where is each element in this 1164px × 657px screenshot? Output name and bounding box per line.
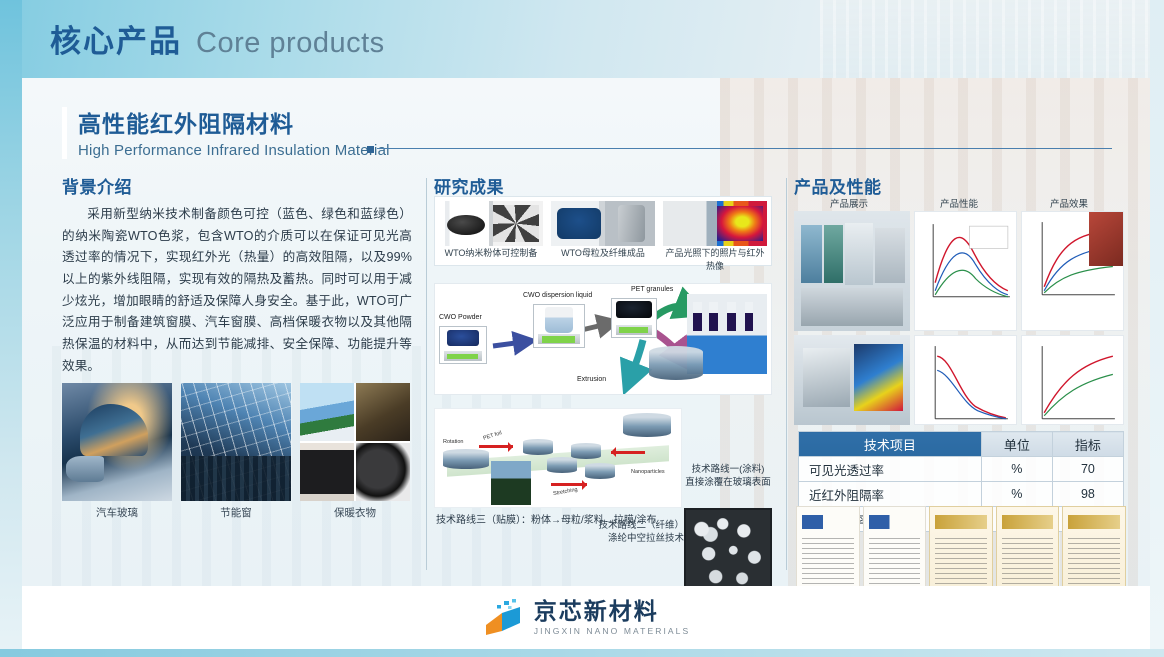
photo-cell-warm-clothing: 保暖衣物 — [300, 383, 410, 520]
route1-line1: 技术路线一(涂料) — [670, 464, 786, 477]
product-effect-chart-1 — [1021, 211, 1124, 331]
sample-tray — [801, 288, 903, 326]
product-top-row — [794, 211, 1124, 331]
label-nanoparticles: Nanoparticles — [631, 469, 665, 475]
certificates-row — [796, 506, 1126, 586]
section-title-en: High Performance Infrared Insulation Mat… — [78, 142, 390, 159]
scale-dispersion — [533, 304, 585, 348]
table-cell-item: 可见光透过率 — [799, 457, 982, 482]
certificate-header-band — [1002, 515, 1054, 528]
extrusion-roller-image — [649, 346, 703, 380]
route2-line2: 涤纶中空拉丝技术 — [598, 533, 684, 546]
label-cwo-dispersion: CWO dispersion liquid — [523, 292, 592, 299]
certificate-text-lines — [935, 538, 987, 586]
product-mid-row — [794, 335, 1124, 425]
cwo-dispersion-jar — [545, 307, 573, 333]
warm-clothing-image — [300, 383, 410, 501]
research-photo-2: WTO母粒及纤维成品 — [547, 197, 659, 265]
section-heading-bar — [62, 107, 67, 159]
research-caption: WTO母粒及纤维成品 — [551, 246, 655, 259]
pet-foil-arrow — [479, 445, 513, 448]
film-process-diagram: Rotation PET foil Stretching Nanoparticl… — [434, 408, 682, 508]
process-flow-diagram: CWO Powder — [434, 283, 772, 395]
table-cell-unit: % — [981, 457, 1052, 482]
header-column-graphic — [820, 0, 1150, 78]
energy-saving-window-image — [181, 383, 291, 501]
logo-name-en: JINGXIN NANO MATERIALS — [534, 627, 691, 636]
certificate-header-band — [935, 515, 987, 528]
table-header-unit: 单位 — [981, 432, 1052, 457]
research-caption: WTO纳米粉体可控制备 — [439, 246, 543, 259]
route2-line1: 技术路线二（纤维） — [598, 520, 684, 533]
film-sample-photo — [491, 461, 531, 505]
label-extrusion: Extrusion — [577, 376, 606, 383]
certificate-text-lines — [1002, 538, 1054, 586]
subcaption-product-effect: 产品效果 — [1014, 196, 1124, 210]
product-performance-chart-2 — [914, 335, 1017, 425]
photo-caption: 节能窗 — [181, 505, 291, 520]
roller — [523, 439, 553, 455]
certificate-patent-3 — [1062, 506, 1126, 586]
car-glass-image — [62, 383, 172, 501]
certificate-test-report — [796, 506, 860, 586]
sample-tile — [801, 225, 822, 283]
page-title-cn: 核心产品 — [50, 16, 182, 61]
section-title-cn: 高性能红外阻隔材料 — [78, 105, 390, 139]
table-header-row: 技术项目 单位 指标 — [799, 432, 1124, 457]
research-photo-1: WTO纳米粉体可控制备 — [435, 197, 547, 265]
certificate-text-lines — [802, 538, 854, 586]
clothing-thumb-skier — [300, 383, 354, 441]
roller — [547, 457, 577, 473]
vial — [693, 302, 702, 331]
research-photo-strip: WTO纳米粉体可控制备 WTO母粒及纤维成品 产品光照下的照片与红外热像 — [434, 196, 772, 266]
sample-tile — [824, 225, 843, 283]
pet-granules-bag — [616, 301, 651, 318]
roller-rotation — [443, 449, 489, 469]
certificate-report-2 — [863, 506, 927, 586]
certificate-text-lines — [869, 538, 921, 586]
page-title-en: Core products — [196, 27, 385, 60]
section-heading: 高性能红外阻隔材料 High Performance Infrared Insu… — [62, 105, 390, 159]
route1-line2: 直接涂覆在玻璃表面 — [670, 477, 786, 490]
chart-curves — [1022, 336, 1123, 425]
label-rotation: Rotation — [443, 439, 464, 445]
slide-body: 高性能红外阻隔材料 High Performance Infrared Insu… — [22, 78, 1150, 586]
photo-cell-car-glass: 汽车玻璃 — [62, 383, 172, 520]
background-paragraph: 采用新型纳米技术制备颜色可控（蓝色、绿色和蓝绿色）的纳米陶瓷WTO色浆，包含WT… — [62, 204, 412, 377]
column-title-research: 研究成果 — [434, 173, 779, 198]
slide-footer: 京芯新材料 JINGXIN NANO MATERIALS — [22, 586, 1150, 649]
slide-header: 核心产品 Core products — [22, 0, 1150, 78]
label-stretching: Stretching — [553, 487, 578, 497]
roller — [571, 443, 601, 459]
certificate-patent-1 — [929, 506, 993, 586]
column-divider-1 — [426, 178, 427, 570]
sample-bag — [845, 223, 873, 285]
effect-inset-photo — [1089, 212, 1123, 266]
roller — [585, 463, 615, 479]
column-title-product: 产品及性能 — [794, 173, 1124, 198]
demo-panel — [803, 348, 849, 407]
photo-caption: 汽车玻璃 — [62, 505, 172, 520]
logo-mark-svg — [482, 599, 524, 637]
scale-display — [619, 327, 648, 333]
product-demo-photo — [794, 335, 910, 425]
chart-curves — [915, 212, 1016, 313]
vial — [709, 302, 718, 331]
infrared-thermal-image — [663, 201, 767, 246]
product-effect-chart-2 — [1021, 335, 1124, 425]
slide-root: 核心产品 Core products 高性能红外阻隔材料 High Perfor… — [0, 0, 1164, 657]
certificate-text-lines — [1068, 538, 1120, 586]
route1-label: 技术路线一(涂料) 直接涂覆在玻璃表面 — [670, 464, 786, 490]
product-performance-chart-1 — [914, 211, 1017, 331]
vial — [745, 302, 754, 331]
certificate-patent-2 — [996, 506, 1060, 586]
clothing-thumb-gloves — [356, 443, 410, 501]
label-pet-foil: PET foil — [483, 430, 503, 442]
column-divider-2 — [786, 178, 787, 570]
company-logo-text: 京芯新材料 JINGXIN NANO MATERIALS — [534, 600, 691, 636]
page-title: 核心产品 Core products — [50, 16, 385, 61]
certificate-header-band — [1068, 515, 1120, 528]
table-row: 可见光透过率 % 70 — [799, 457, 1124, 482]
stretching-arrow — [551, 483, 587, 486]
company-logo-icon — [482, 599, 524, 637]
clothing-thumb-leggings — [300, 443, 354, 501]
wto-nano-powder-image — [439, 201, 543, 246]
scale-granules — [611, 298, 657, 338]
nanoparticles-arrow — [611, 451, 645, 454]
hollow-fiber-cross-section-image — [684, 508, 772, 586]
slide-right-edge-gradient — [1150, 0, 1164, 657]
wto-masterbatch-fiber-image — [551, 201, 655, 246]
photo-caption: 保暖衣物 — [300, 505, 410, 520]
research-caption: 产品光照下的照片与红外热像 — [663, 246, 767, 272]
logo-name-cn: 京芯新材料 — [534, 600, 691, 623]
product-samples-photo — [794, 211, 910, 331]
table-cell-item: 近红外阻隔率 — [799, 482, 982, 507]
roller-large — [623, 413, 671, 437]
table-cell-unit: % — [981, 482, 1052, 507]
certificate-header-band — [802, 515, 854, 528]
sample-bag — [875, 228, 905, 283]
subcaption-product-performance: 产品性能 — [904, 196, 1014, 210]
chart-curves — [915, 336, 1016, 425]
clothing-thumb-coat — [356, 383, 410, 441]
slide-left-edge-gradient — [0, 0, 22, 657]
slide-bottom-edge-gradient — [0, 649, 1164, 657]
product-subcaptions: 产品展示 产品性能 产品效果 — [794, 196, 1124, 210]
label-pet-granules: PET granules — [631, 286, 673, 293]
section-heading-rule — [377, 148, 1112, 149]
table-cell-value: 98 — [1052, 482, 1123, 507]
certificate-header-band — [869, 515, 921, 528]
table-row: 近红外阻隔率 % 98 — [799, 482, 1124, 507]
research-photo-3: 产品光照下的照片与红外热像 — [659, 197, 771, 265]
route2-label: 技术路线二（纤维） 涤纶中空拉丝技术 — [598, 520, 684, 546]
scale-display — [542, 336, 575, 343]
subcaption-product-display: 产品展示 — [794, 196, 904, 210]
photo-cell-energy-window: 节能窗 — [181, 383, 291, 520]
demo-thermal-screen — [854, 344, 903, 411]
table-header-index: 指标 — [1052, 432, 1123, 457]
table-header-item: 技术项目 — [799, 432, 982, 457]
background-photo-row: 汽车玻璃 节能窗 保暖衣物 — [62, 383, 412, 520]
table-cell-value: 70 — [1052, 457, 1123, 482]
column-title-background: 背景介绍 — [62, 173, 412, 198]
column-background: 背景介绍 采用新型纳米技术制备颜色可控（蓝色、绿色和蓝绿色）的纳米陶瓷WTO色浆… — [62, 173, 412, 377]
vial — [727, 302, 736, 331]
